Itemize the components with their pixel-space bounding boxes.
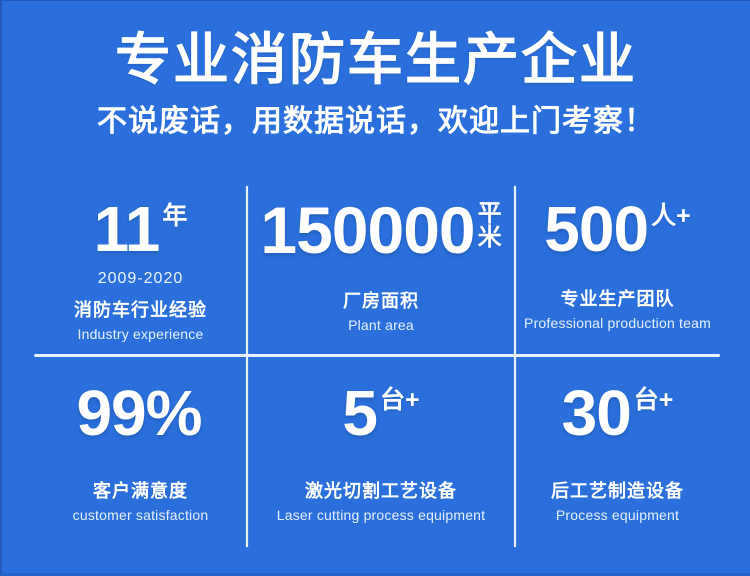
stat-label-en: Industry experience [78, 326, 204, 342]
stat-label-cn: 激光切割工艺设备 [305, 477, 457, 503]
stat-cell-production-team: 500 人+ 专业生产团队 Professional production te… [515, 186, 720, 356]
stat-label-en: Process equipment [556, 507, 679, 523]
stat-number: 11 [94, 200, 160, 259]
promo-poster: 专业消防车生产企业 不说废话，用数据说话，欢迎上门考察！ 11 年 2009-2… [0, 0, 750, 576]
stat-label-cn: 客户满意度 [93, 477, 188, 503]
stat-number: 150000 [260, 200, 474, 261]
stat-cell-plant-area: 150000 平 米 厂房面积 Plant area [247, 186, 515, 356]
stat-label-en: Plant area [348, 317, 414, 333]
stat-number: 30 [562, 384, 631, 443]
stats-grid: 11 年 2009-2020 消防车行业经验 Industry experien… [34, 186, 720, 547]
stat-number: 500 [544, 200, 648, 259]
stat-cell-industry-experience: 11 年 2009-2020 消防车行业经验 Industry experien… [34, 186, 247, 356]
stat-label-cn: 厂房面积 [343, 287, 419, 313]
stat-number-row: 11 年 [94, 200, 188, 259]
stat-number: 5 [342, 384, 377, 443]
poster-header: 专业消防车生产企业 不说废话，用数据说话，欢迎上门考察！ [2, 1, 750, 141]
stat-label-cn: 专业生产团队 [561, 285, 675, 311]
page-subtitle: 不说废话，用数据说话，欢迎上门考察！ [2, 103, 750, 141]
stat-label-cn: 消防车行业经验 [74, 296, 207, 322]
stat-unit-top: 平 [478, 202, 502, 226]
stat-unit: 台+ [380, 388, 420, 414]
stat-cell-process-equipment: 30 台+ 后工艺制造设备 Process equipment [515, 356, 720, 547]
stat-cell-customer-satisfaction: 99% 客户满意度 customer satisfaction [34, 356, 247, 547]
stat-label-en: Professional production team [524, 315, 711, 331]
stat-unit: 平 米 [478, 202, 502, 250]
stat-label-en: Laser cutting process equipment [277, 507, 486, 523]
stat-number-row: 99% [76, 384, 204, 443]
stat-cell-laser-cutting: 5 台+ 激光切割工艺设备 Laser cutting process equi… [247, 356, 515, 547]
stat-range: 2009-2020 [98, 270, 184, 288]
stat-number-row: 30 台+ [562, 384, 674, 443]
stat-number-row: 500 人+ [544, 200, 690, 259]
stat-unit: 人+ [651, 204, 691, 230]
stat-label-cn: 后工艺制造设备 [551, 477, 684, 503]
stat-unit: 年 [162, 204, 187, 230]
stat-number-row: 5 台+ [342, 384, 419, 443]
page-title: 专业消防车生产企业 [2, 27, 750, 93]
stat-unit-bottom: 米 [478, 226, 502, 250]
stat-unit: 台+ [634, 388, 674, 414]
stat-label-en: customer satisfaction [73, 507, 209, 523]
stat-number: 99% [76, 384, 201, 443]
stat-number-row: 150000 平 米 [260, 200, 501, 261]
